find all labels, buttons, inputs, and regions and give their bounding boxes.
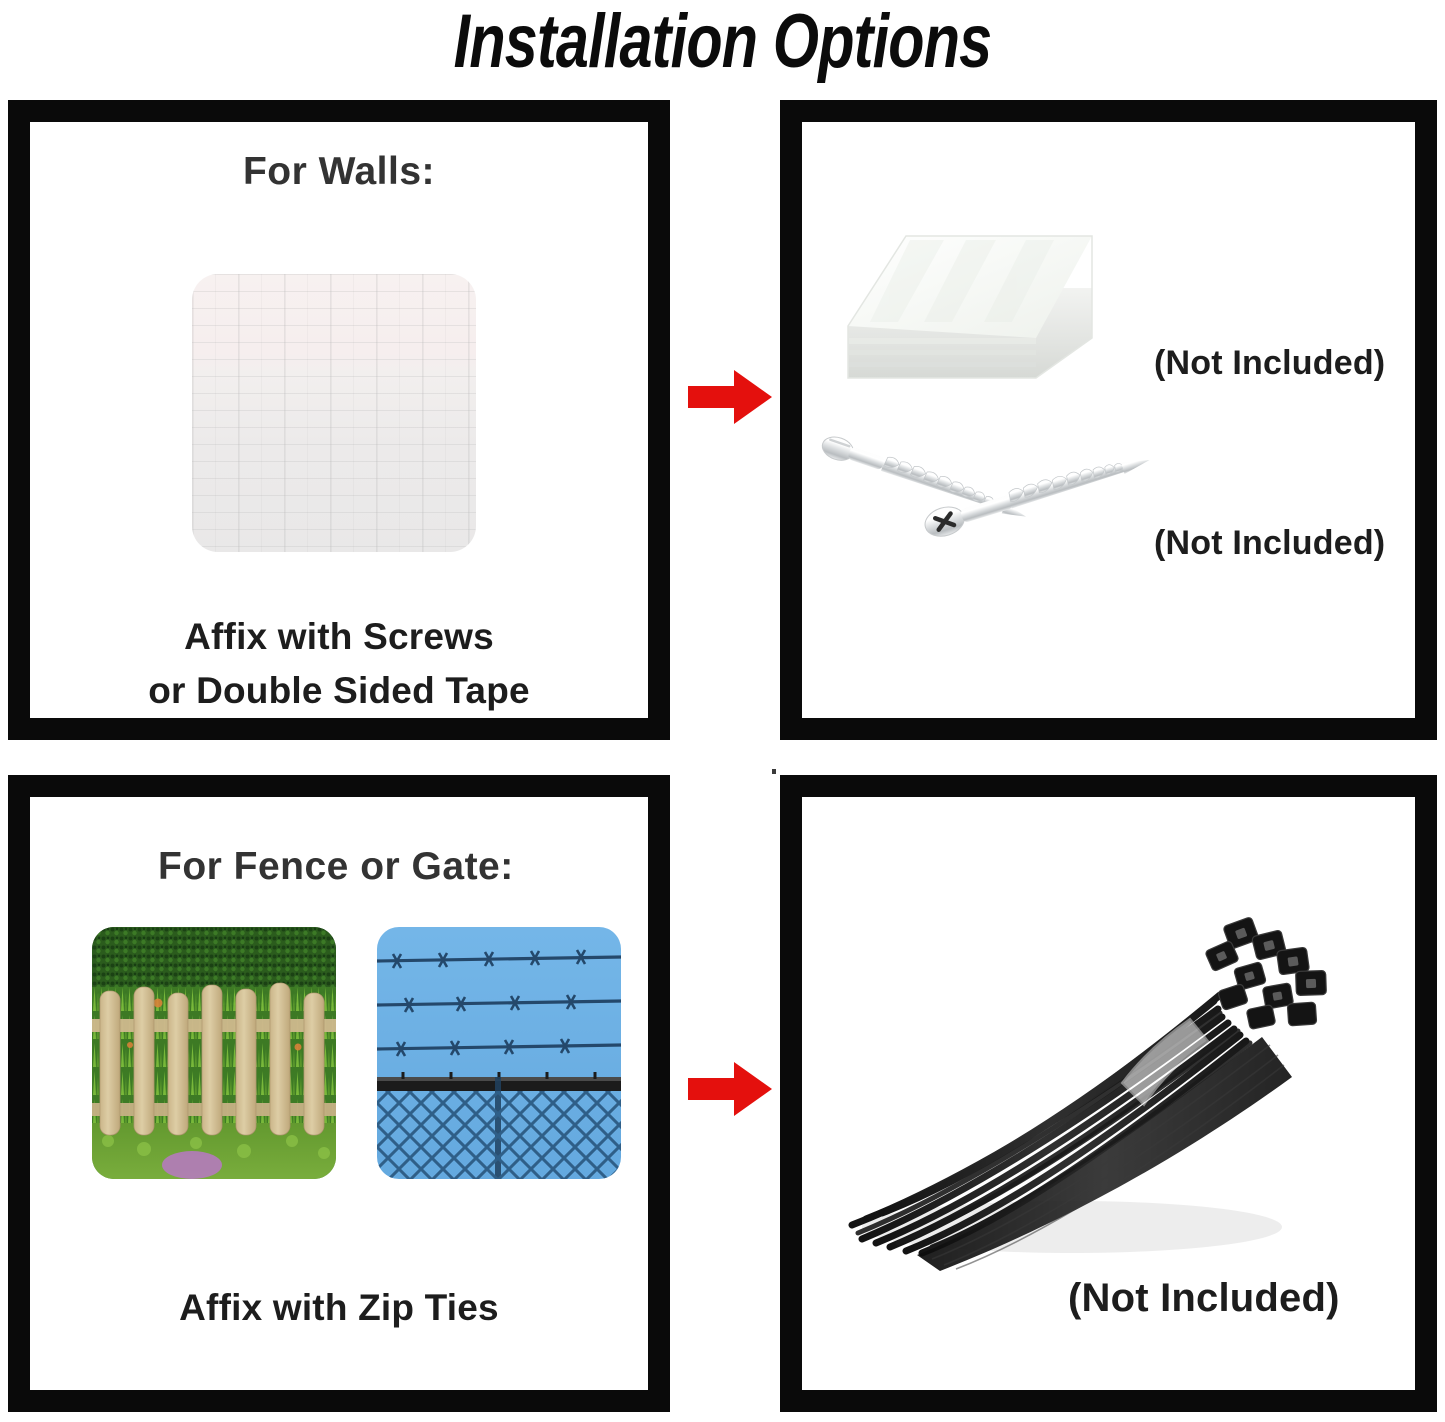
panel-zip-ties: (Not Included) — [780, 775, 1437, 1412]
chain-link-fence-photo — [377, 927, 621, 1179]
zip-ties-bundle-image — [822, 887, 1342, 1287]
panel-wall-fasteners: (Not Included) — [780, 100, 1437, 740]
page-title: Installation Options — [159, 0, 1286, 90]
caption-affix-with-screws: Affix with Screws — [30, 616, 648, 658]
screws-not-included-label: (Not Included) — [1154, 524, 1385, 563]
panel-for-walls-content: For Walls: Affix with Screws or Double S… — [30, 122, 648, 718]
red-right-arrow-icon-bottom — [688, 1060, 772, 1118]
screws-image — [812, 422, 1162, 602]
wooden-picket-fence-photo — [92, 927, 336, 1179]
panel-for-fence-or-gate-content: For Fence or Gate: — [30, 797, 648, 1390]
heading-for-fence-or-gate: For Fence or Gate: — [158, 845, 514, 889]
caption-or-double-sided-tape: or Double Sided Tape — [30, 670, 648, 712]
picket-fence-icon — [92, 927, 336, 1179]
red-right-arrow-icon-top — [688, 368, 772, 426]
panel-for-walls: For Walls: Affix with Screws or Double S… — [8, 100, 670, 740]
zip-ties-icon — [822, 887, 1342, 1287]
caption-affix-with-zip-ties: Affix with Zip Ties — [30, 1287, 648, 1329]
panel-zip-ties-content: (Not Included) — [802, 797, 1415, 1390]
screws-icon — [812, 422, 1162, 602]
installation-options-infographic: Installation Options For Walls: Affix wi… — [0, 0, 1445, 1422]
chain-link-fence-icon — [377, 927, 621, 1179]
double-sided-tape-stack-image — [840, 218, 1100, 398]
image-speck-artifact — [772, 769, 776, 774]
tape-not-included-label: (Not Included) — [1154, 344, 1385, 383]
heading-for-walls: For Walls: — [30, 150, 648, 194]
zip-ties-not-included-label: (Not Included) — [1068, 1276, 1340, 1321]
white-brick-wall-image — [192, 274, 476, 552]
panel-wall-fasteners-content: (Not Included) — [802, 122, 1415, 718]
panel-for-fence-or-gate: For Fence or Gate: — [8, 775, 670, 1412]
tape-stack-icon — [840, 218, 1100, 398]
